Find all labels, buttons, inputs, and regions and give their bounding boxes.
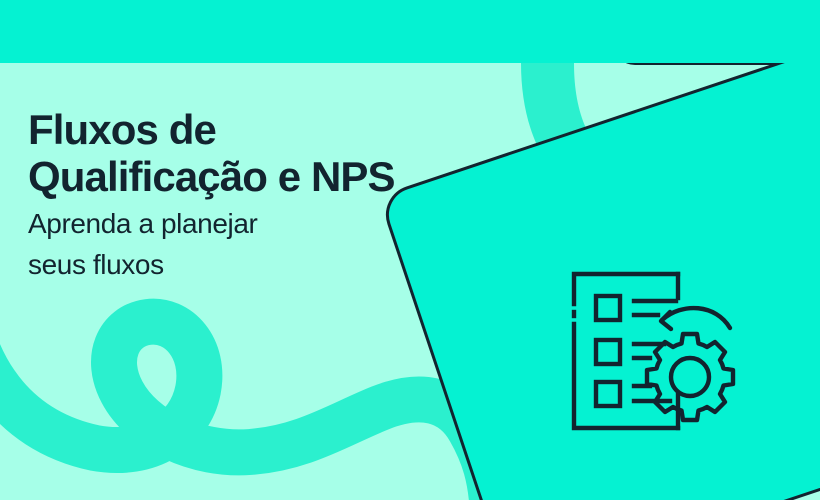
subhead-line-2: seus fluxos [28, 247, 548, 282]
subhead-line-1: Aprenda a planejar [28, 206, 548, 241]
headline-line-1: Fluxos de [28, 106, 548, 153]
refresh-arrow-curve [662, 308, 730, 328]
title-block: Fluxos de Qualificação e NPS Aprenda a p… [28, 106, 548, 282]
header-bar [0, 0, 820, 63]
gear-center-hole [671, 358, 709, 396]
refresh-arrow-head [661, 312, 671, 329]
checklist-gear-icon [566, 268, 756, 448]
headline-line-2: Qualificação e NPS [28, 153, 548, 200]
checkbox-1 [596, 296, 620, 320]
checkbox-2 [596, 340, 620, 364]
checkbox-3 [596, 382, 620, 406]
corner-arc [0, 420, 61, 500]
webinar-banner: WEBINAR RDC Fluxos de Qualificação e NPS… [0, 0, 820, 500]
gear-shape [647, 334, 733, 420]
